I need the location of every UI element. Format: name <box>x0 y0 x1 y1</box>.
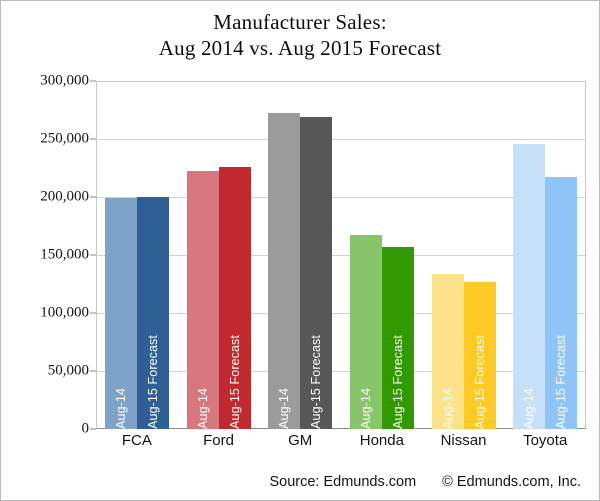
x-axis-labels: FCAFordGMHondaNissanToyota <box>96 432 586 458</box>
bar[interactable]: Aug-15 Forecast <box>219 167 251 429</box>
x-axis-label-gm: GM <box>259 432 341 458</box>
bar-label: Aug-14 <box>359 382 373 429</box>
bar-label: Aug-15 Forecast <box>146 329 160 429</box>
x-axis-label-nissan: Nissan <box>423 432 505 458</box>
bar-label: Aug-14 <box>114 382 128 429</box>
chart-title-line-2: Aug 2014 vs. Aug 2015 Forecast <box>1 35 599 61</box>
bar[interactable]: Aug-14 <box>350 235 382 429</box>
x-axis-label-fca: FCA <box>96 432 178 458</box>
bar-group-gm: Aug-14Aug-15 Forecast <box>259 81 341 429</box>
y-axis-tick-label: 200,000 <box>40 189 89 206</box>
gridline <box>97 255 585 256</box>
bar[interactable]: Aug-14 <box>105 198 137 429</box>
bar-label: Aug-15 Forecast <box>309 329 323 429</box>
y-axis-tick-label: 50,000 <box>48 363 89 380</box>
bar-label: Aug-15 Forecast <box>391 329 405 429</box>
bar-label: Aug-15 Forecast <box>228 329 242 429</box>
chart-container: Manufacturer Sales: Aug 2014 vs. Aug 201… <box>0 0 600 501</box>
bar-label: Aug-15 Forecast <box>473 329 487 429</box>
bar[interactable]: Aug-14 <box>268 113 300 429</box>
bar-label: Aug-14 <box>522 382 536 429</box>
copyright-text: © Edmunds.com, Inc. <box>442 474 581 490</box>
gridline <box>97 197 585 198</box>
gridline <box>97 139 585 140</box>
x-axis-label-honda: Honda <box>341 432 423 458</box>
y-axis-tick-label: 150,000 <box>40 247 89 264</box>
x-axis-label-ford: Ford <box>178 432 260 458</box>
bar[interactable]: Aug-15 Forecast <box>382 247 414 429</box>
y-axis-tick-label: 0 <box>82 421 90 438</box>
bar[interactable]: Aug-15 Forecast <box>300 117 332 429</box>
bar[interactable]: Aug-14 <box>432 274 464 429</box>
chart-title: Manufacturer Sales: Aug 2014 vs. Aug 201… <box>1 9 599 61</box>
y-axis-tick-label: 250,000 <box>40 131 89 148</box>
bar-label: Aug-14 <box>277 382 291 429</box>
y-axis-tick-label: 100,000 <box>40 305 89 322</box>
bar[interactable]: Aug-15 Forecast <box>464 282 496 429</box>
y-axis: 300,000250,000200,000150,000100,00050,00… <box>1 81 89 429</box>
bar[interactable]: Aug-14 <box>513 144 545 429</box>
bar[interactable]: Aug-14 <box>187 171 219 429</box>
bar-label: Aug-14 <box>441 382 455 429</box>
chart-title-line-1: Manufacturer Sales: <box>1 9 599 35</box>
gridline <box>97 313 585 314</box>
source-text: Source: Edmunds.com <box>269 474 416 490</box>
bar-label: Aug-15 Forecast <box>554 329 568 429</box>
y-axis-tick-label: 300,000 <box>40 73 89 90</box>
bar[interactable]: Aug-15 Forecast <box>545 177 577 429</box>
gridline <box>97 371 585 372</box>
bar-label: Aug-14 <box>196 382 210 429</box>
chart-footer: Source: Edmunds.com © Edmunds.com, Inc. <box>1 470 599 494</box>
bar[interactable]: Aug-15 Forecast <box>137 197 169 429</box>
x-axis-label-toyota: Toyota <box>504 432 586 458</box>
